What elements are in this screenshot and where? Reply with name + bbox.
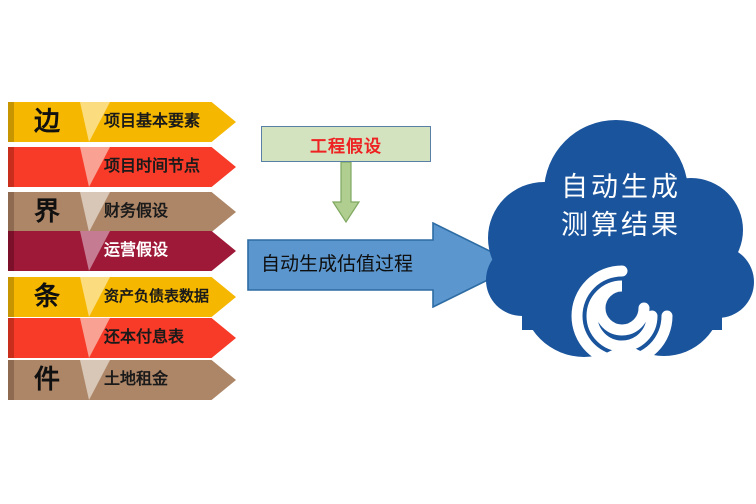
row-label: 还本付息表 [104,318,228,358]
row-label: 运营假设 [104,231,228,271]
chevron-row[interactable]: 运营假设 [8,231,236,271]
chevron-row[interactable]: 还本付息表 [8,318,236,358]
row-label: 土地租金 [104,360,228,400]
row-label: 财务假设 [104,192,228,232]
row-label: 项目基本要素 [104,102,228,142]
row-side-strip [8,318,14,358]
chevron-row[interactable]: 边 项目基本要素 [8,102,236,142]
auto-valuation-label: 自动生成估值过程 [261,244,451,286]
engineering-assumption-box[interactable]: 工程假设 [261,126,431,162]
row-side-strip [8,277,14,317]
chevron-row[interactable]: 界 财务假设 [8,192,236,232]
row-side-strip [8,360,14,400]
cloud-shape [486,120,756,364]
row-badge [20,318,74,358]
row-badge: 条 [20,277,74,317]
row-badge [20,147,74,187]
row-badge: 件 [20,360,74,400]
row-label: 资产负债表数据 [104,277,228,317]
row-badge [20,231,74,271]
auto-valuation-arrow[interactable]: 自动生成估值过程 [247,222,519,308]
diagram-canvas: 边 项目基本要素 项目时间节点 界 财务假设 运营假设 [0,0,756,504]
down-arrow-icon [331,162,361,224]
chevron-row[interactable]: 项目时间节点 [8,147,236,187]
row-label: 项目时间节点 [104,147,228,187]
row-side-strip [8,231,14,271]
row-side-strip [8,102,14,142]
result-cloud[interactable]: 自动生成 测算结果 [486,120,756,364]
chevron-row[interactable]: 条 资产负债表数据 [8,277,236,317]
row-side-strip [8,192,14,232]
chevron-row[interactable]: 件 土地租金 [8,360,236,400]
row-badge: 界 [20,192,74,232]
engineering-assumption-label: 工程假设 [310,132,382,157]
row-badge: 边 [20,102,74,142]
row-side-strip [8,147,14,187]
